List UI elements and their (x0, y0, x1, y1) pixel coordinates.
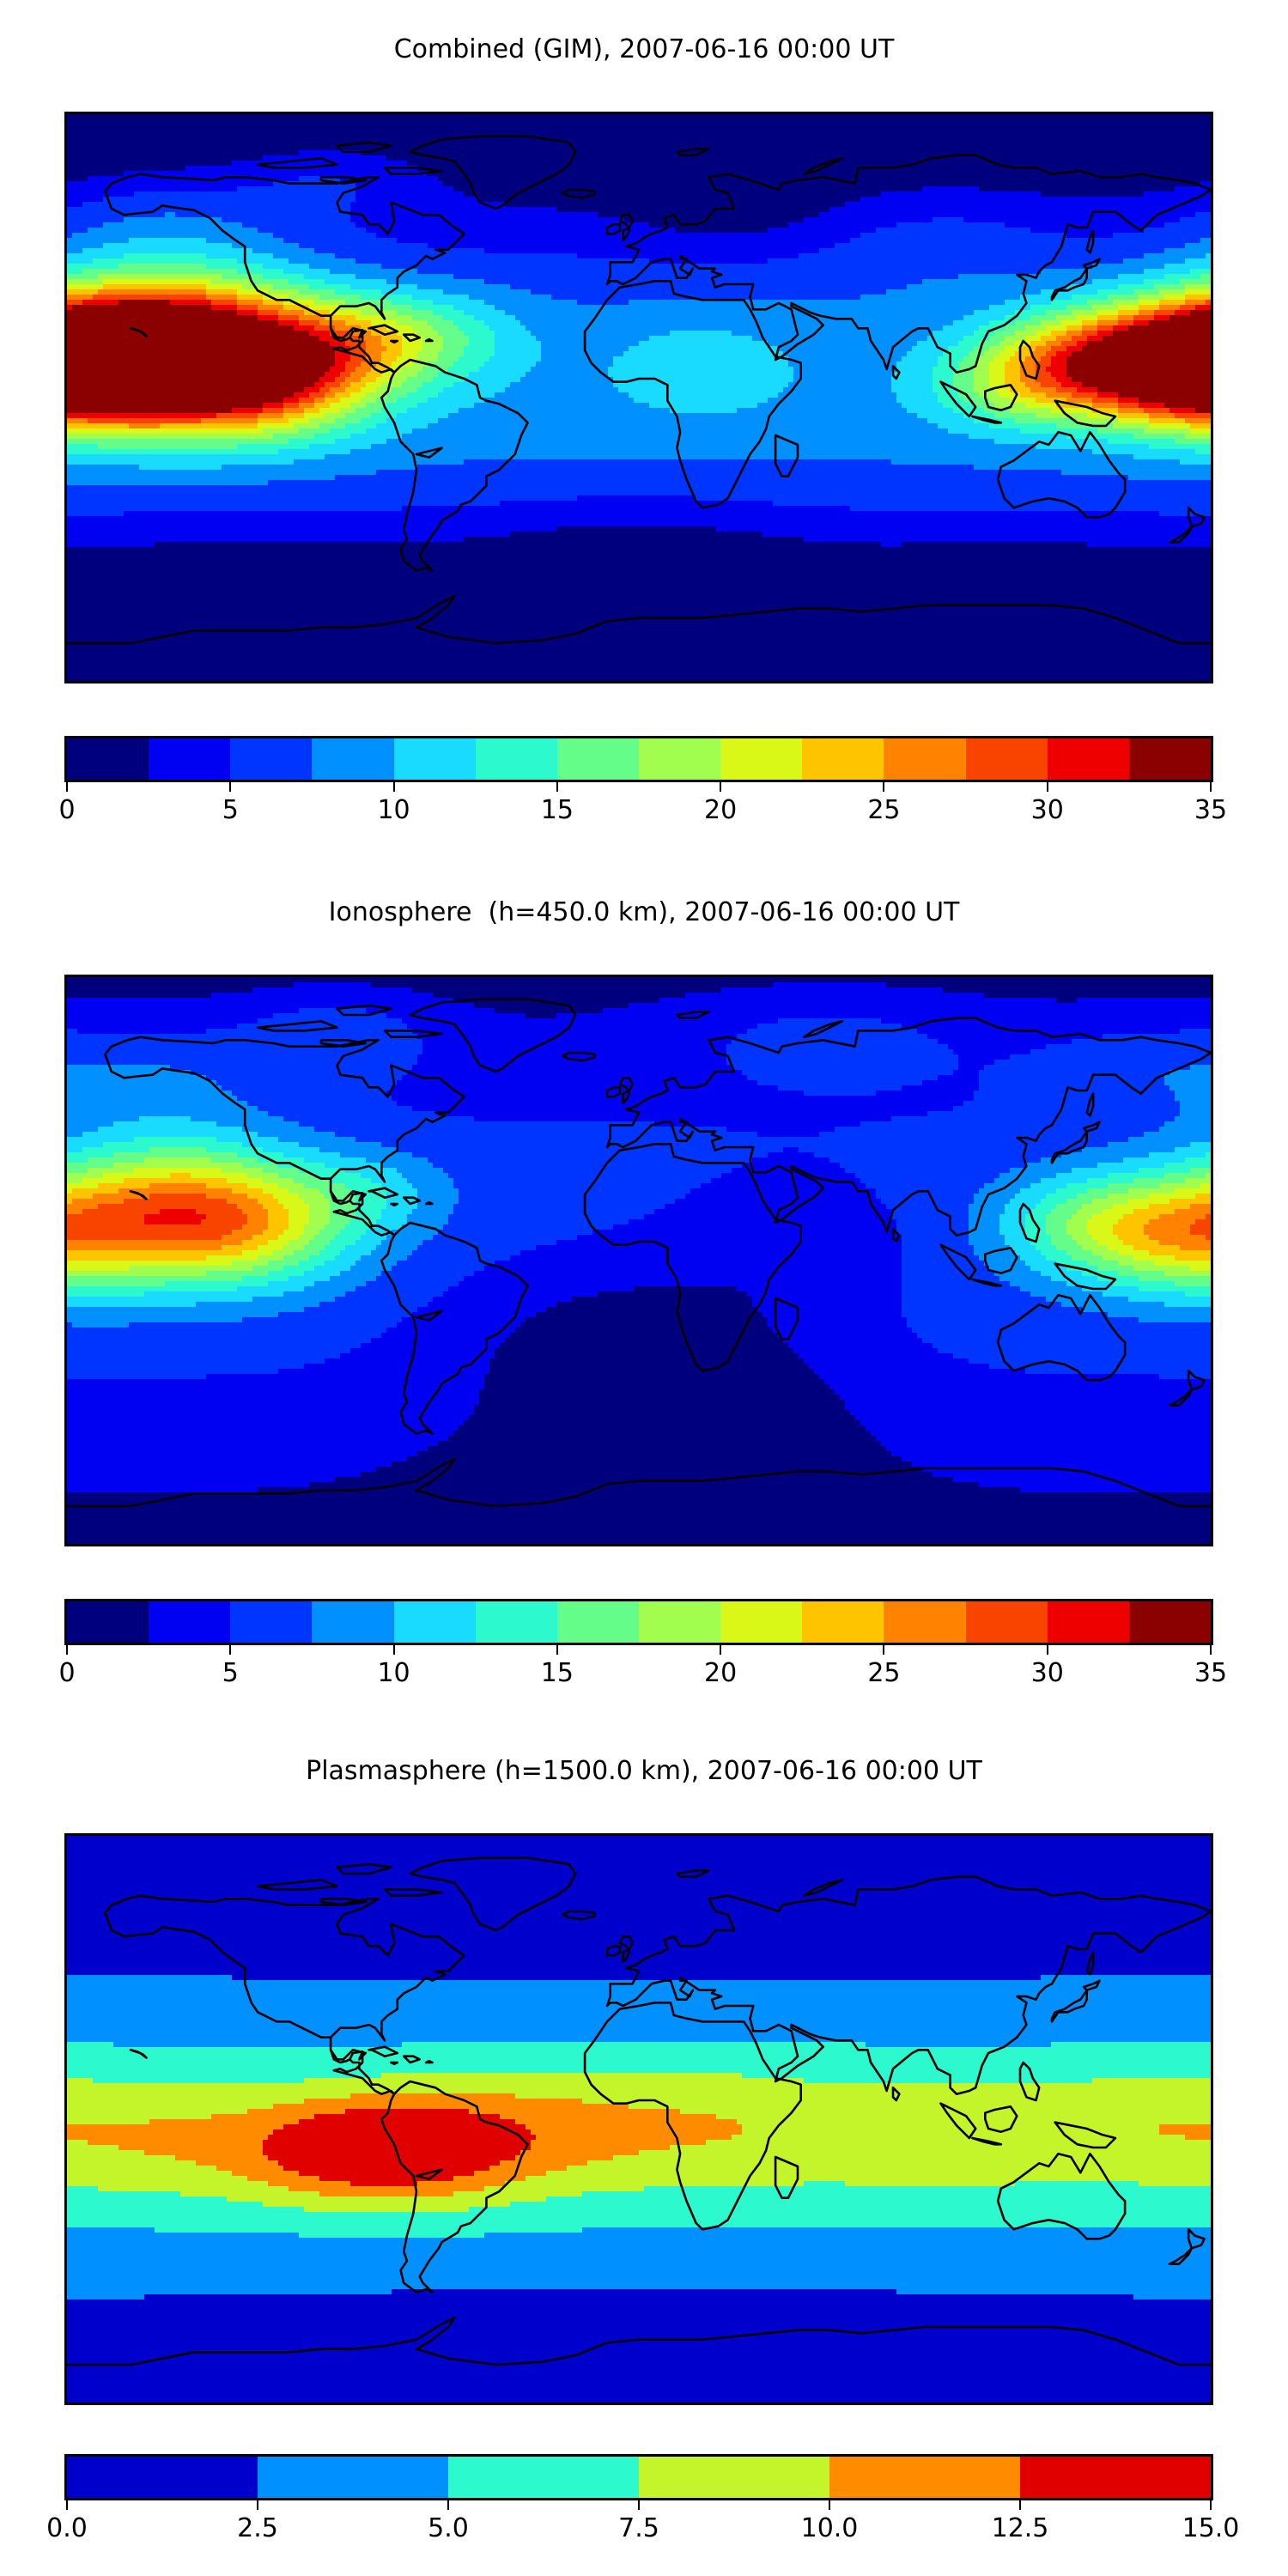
colorbar-tick-label: 30 (1031, 1658, 1064, 1688)
coastline-path (426, 2061, 432, 2063)
colorbar-tick-label: 15 (541, 1658, 574, 1688)
colorbar-tick-mark (556, 1643, 558, 1655)
colorbar-tick-mark (66, 1643, 68, 1655)
colorbar-band (67, 738, 149, 780)
map-contour-surface (67, 977, 1211, 1544)
colorbar-band (394, 738, 476, 780)
colorbar-tick-mark (883, 780, 884, 792)
colorbar-band (394, 1601, 476, 1643)
colorbar-band (639, 738, 720, 780)
colorbar-band (1048, 1601, 1129, 1643)
colorbar-band (476, 738, 557, 780)
map-combined-gim (64, 112, 1213, 683)
colorbar-tick-mark (829, 2498, 830, 2510)
colorbar-ticks-ionosphere: 05101520253035 (64, 1643, 1213, 1703)
colorbar-tick-label: 7.5 (618, 2513, 659, 2543)
colorbar-band (802, 738, 884, 780)
colorbar-tick-label: 0 (58, 1658, 75, 1688)
colorbar-band (476, 1601, 557, 1643)
colorbar-tick-label: 0.0 (46, 2513, 88, 2543)
panel-title-ionosphere: Ionosphere (h=450.0 km), 2007-06-16 00:0… (0, 897, 1288, 927)
colorbar-band (639, 2457, 829, 2498)
coastline-path (391, 341, 397, 343)
colorbar-band (149, 738, 230, 780)
colorbar-tick-mark (1047, 1643, 1048, 1655)
colorbar-tick-label: 10 (377, 795, 410, 825)
colorbar-tick-mark (66, 2498, 68, 2510)
map-plasmasphere (64, 1833, 1213, 2405)
colorbar-tick-label: 5 (222, 1658, 239, 1688)
colorbar-band (1020, 2457, 1211, 2498)
map-ionosphere (64, 975, 1213, 1546)
colorbar-band (149, 1601, 230, 1643)
panel-title-combined: Combined (GIM), 2007-06-16 00:00 UT (0, 34, 1288, 64)
colorbar-tick-label: 15 (541, 795, 574, 825)
colorbar-ticks-plasmasphere: 0.02.55.07.510.012.515.0 (64, 2498, 1213, 2558)
colorbar-tick-label: 30 (1031, 795, 1064, 825)
colorbar-tick-mark (1047, 780, 1048, 792)
colorbar-tick-label: 0 (58, 795, 75, 825)
colorbar-tick-mark (638, 2498, 640, 2510)
colorbar-combined (64, 736, 1213, 782)
colorbar-tick-mark (1210, 2498, 1212, 2510)
map-contour-surface (67, 114, 1211, 681)
coastline-path (391, 2063, 397, 2064)
colorbar-tick-label: 20 (704, 1658, 737, 1688)
colorbar-tick-mark (1210, 780, 1212, 792)
colorbar-band (1129, 738, 1211, 780)
colorbar-tick-label: 12.5 (992, 2513, 1049, 2543)
colorbar-tick-label: 25 (867, 795, 900, 825)
colorbar-band (312, 1601, 393, 1643)
panel-ionosphere: Ionosphere (h=450.0 km), 2007-06-16 00:0… (0, 859, 1288, 1735)
panel-plasmasphere: Plasmasphere (h=1500.0 km), 2007-06-16 0… (0, 1735, 1288, 2576)
colorbar-tick-label: 10.0 (801, 2513, 859, 2543)
colorbar-band (639, 1601, 720, 1643)
colorbar-tick-mark (720, 780, 721, 792)
colorbar-tick-label: 25 (867, 1658, 900, 1688)
colorbar-tick-label: 20 (704, 795, 737, 825)
colorbar-tick-mark (883, 1643, 884, 1655)
colorbar-tick-mark (393, 1643, 395, 1655)
colorbar-band (1129, 1601, 1211, 1643)
colorbar-band (312, 738, 393, 780)
colorbar-band (966, 1601, 1048, 1643)
colorbar-tick-mark (229, 1643, 231, 1655)
colorbar-tick-mark (720, 1643, 721, 1655)
colorbar-band (966, 738, 1048, 780)
map-contour-surface (67, 1836, 1211, 2403)
colorbar-tick-mark (229, 780, 231, 792)
colorbar-band (802, 1601, 884, 1643)
colorbar-band (230, 738, 312, 780)
panel-combined-gim: Combined (GIM), 2007-06-16 00:00 UT 0510… (0, 0, 1288, 859)
colorbar-band (448, 2457, 639, 2498)
colorbar-ionosphere (64, 1599, 1213, 1645)
colorbar-band (557, 1601, 639, 1643)
figure-canvas: Combined (GIM), 2007-06-16 00:00 UT 0510… (0, 0, 1288, 2576)
colorbar-ticks-combined: 05101520253035 (64, 780, 1213, 840)
colorbar-tick-mark (1019, 2498, 1021, 2510)
colorbar-band (884, 738, 965, 780)
coastline-path (391, 1204, 397, 1206)
colorbar-band (258, 2457, 448, 2498)
colorbar-tick-label: 5 (222, 795, 239, 825)
colorbar-band (1048, 738, 1129, 780)
colorbar-band (884, 1601, 965, 1643)
colorbar-tick-mark (393, 780, 395, 792)
colorbar-tick-mark (447, 2498, 449, 2510)
colorbar-band (720, 738, 802, 780)
colorbar-tick-label: 15.0 (1182, 2513, 1240, 2543)
colorbar-band (67, 2457, 258, 2498)
coastline-path (426, 339, 432, 341)
colorbar-tick-label: 10 (377, 1658, 410, 1688)
colorbar-band (829, 2457, 1020, 2498)
colorbar-tick-label: 35 (1194, 795, 1227, 825)
colorbar-tick-mark (556, 780, 558, 792)
colorbar-band (557, 738, 639, 780)
coastline-path (426, 1202, 432, 1204)
colorbar-tick-mark (257, 2498, 258, 2510)
colorbar-tick-label: 35 (1194, 1658, 1227, 1688)
colorbar-plasmasphere (64, 2454, 1213, 2500)
colorbar-tick-label: 2.5 (237, 2513, 278, 2543)
colorbar-band (67, 1601, 149, 1643)
panel-title-plasmasphere: Plasmasphere (h=1500.0 km), 2007-06-16 0… (0, 1756, 1288, 1786)
colorbar-tick-label: 5.0 (428, 2513, 469, 2543)
colorbar-tick-mark (66, 780, 68, 792)
colorbar-band (230, 1601, 312, 1643)
colorbar-tick-mark (1210, 1643, 1212, 1655)
colorbar-band (720, 1601, 802, 1643)
